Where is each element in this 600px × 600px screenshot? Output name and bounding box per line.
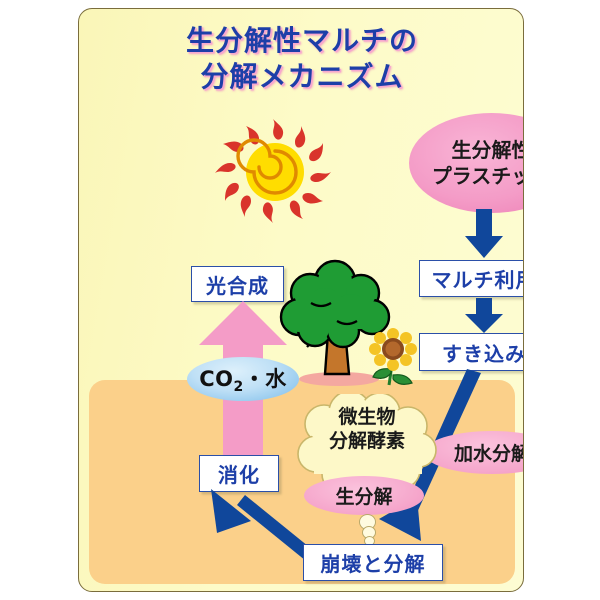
node-plastic-line-1: 生分解性 bbox=[432, 137, 524, 163]
node-photosynthesis[interactable]: 光合成 bbox=[191, 266, 284, 302]
diagram-canvas: 生分解性マルチの 分解メカニズム bbox=[0, 0, 600, 600]
title-line-2: 分解メカニズム bbox=[79, 59, 524, 95]
arrow-down-icon bbox=[463, 209, 505, 259]
title-line-1: 生分解性マルチの bbox=[79, 23, 524, 59]
node-biodegradation-label: 生分解 bbox=[335, 482, 392, 509]
node-plow-in[interactable]: すき込み bbox=[419, 333, 524, 371]
node-mulch-use[interactable]: マルチ利用 bbox=[419, 260, 524, 297]
node-digestion-label: 消化 bbox=[218, 459, 260, 488]
node-biodegradable-plastic[interactable]: 生分解性 プラスチック bbox=[409, 113, 524, 213]
node-mulch-use-label: マルチ利用 bbox=[432, 264, 525, 293]
node-co2-label: CO2・水 bbox=[199, 363, 287, 395]
node-plastic-line-2: プラスチック bbox=[432, 163, 524, 189]
cloud-line-1: 微生物 bbox=[292, 406, 442, 430]
node-biodegradation[interactable]: 生分解 bbox=[304, 476, 424, 515]
infographic-card: 生分解性マルチの 分解メカニズム bbox=[78, 8, 524, 592]
node-hydrolysis-label: 加水分解 bbox=[454, 439, 524, 466]
sunflower-icon bbox=[367, 327, 419, 389]
node-photosynthesis-label: 光合成 bbox=[206, 270, 269, 299]
page-title: 生分解性マルチの 分解メカニズム bbox=[79, 23, 524, 95]
sun-icon bbox=[211, 117, 339, 225]
cloud-line-2: 分解酵素 bbox=[292, 430, 442, 454]
node-plow-in-label: すき込み bbox=[442, 338, 524, 367]
arrow-down-icon bbox=[463, 298, 505, 334]
node-collapse-decompose[interactable]: 崩壊と分解 bbox=[303, 544, 443, 581]
node-collapse-decompose-label: 崩壊と分解 bbox=[321, 548, 426, 577]
